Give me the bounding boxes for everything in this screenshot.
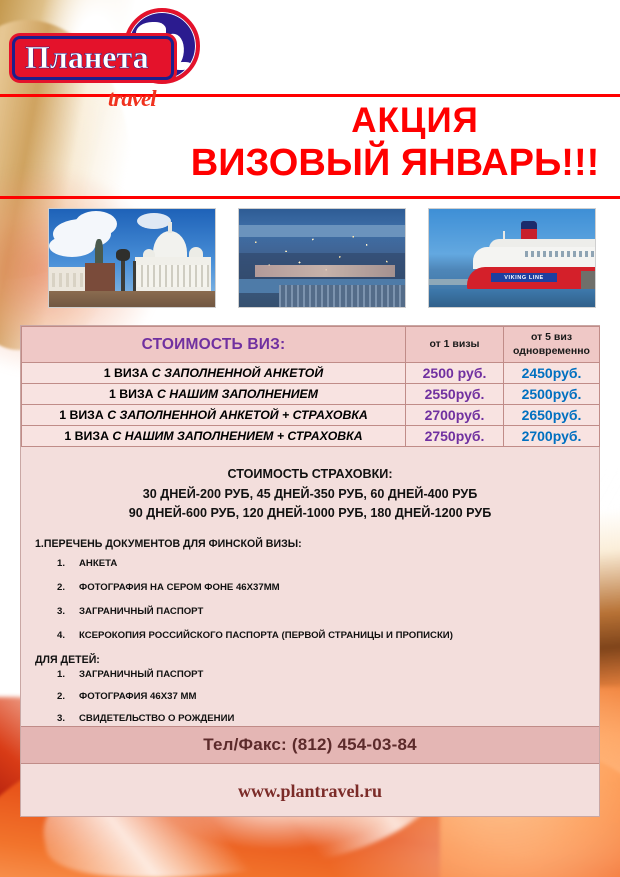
table-row: 1 ВИЗА С ЗАПОЛНЕННОЙ АНКЕТОЙ 2500 руб. 2… (22, 363, 600, 384)
phone-number: Тел/Факс: (812) 454-03-84 (203, 735, 417, 755)
insurance-section: СТОИМОСТЬ СТРАХОВКИ: 30 ДНЕЙ-200 РУБ, 45… (21, 447, 599, 528)
price-single: 2750руб. (406, 426, 504, 447)
headline-line-1: АКЦИЯ (215, 100, 615, 141)
brand-plate: Планета (12, 36, 174, 80)
photo-strip: VIKING LINE (48, 208, 596, 313)
documents-heading: 1.ПЕРЕЧЕНЬ ДОКУМЕНТОВ ДЛЯ ФИНСКОЙ ВИЗЫ: (35, 538, 589, 550)
price-row-label: 1 ВИЗА С ЗАПОЛНЕННОЙ АНКЕТОЙ (22, 363, 406, 384)
list-item: ФОТОГРАФИЯ НА СЕРОМ ФОНЕ 46Х37ММ (57, 582, 589, 593)
price-group: 2450руб. (504, 363, 600, 384)
viking-line-ferry-photo: VIKING LINE (428, 208, 596, 308)
ship-brand-label: VIKING LINE (504, 275, 544, 281)
price-group: 2700руб. (504, 426, 600, 447)
price-row-label: 1 ВИЗА С ЗАПОЛНЕННОЙ АНКЕТОЙ + СТРАХОВКА (22, 405, 406, 426)
page-title: АКЦИЯ ВИЗОВЫЙ ЯНВАРЬ!!! (215, 100, 615, 186)
company-logo: Планета travel (12, 6, 212, 104)
documents-section: 1.ПЕРЕЧЕНЬ ДОКУМЕНТОВ ДЛЯ ФИНСКОЙ ВИЗЫ: … (21, 528, 599, 724)
divider-rule-bottom (0, 196, 620, 199)
list-item: ЗАГРАНИЧНЫЙ ПАСПОРТ (57, 669, 589, 680)
list-item: КСЕРОКОПИЯ РОССИЙСКОГО ПАСПОРТА (ПЕРВОЙ … (57, 630, 589, 641)
price-single: 2550руб. (406, 384, 504, 405)
price-row-label: 1 ВИЗА С НАШИМ ЗАПОЛНЕНИЕМ (22, 384, 406, 405)
price-table-title: СТОИМОСТЬ ВИЗ: (22, 336, 405, 354)
price-group: 2650руб. (504, 405, 600, 426)
brand-subtitle: travel (108, 86, 156, 112)
insurance-title: СТОИМОСТЬ СТРАХОВКИ: (31, 465, 589, 485)
column-header-single-visa: от 1 визы (406, 327, 504, 363)
list-item: ЗАГРАНИЧНЫЙ ПАСПОРТ (57, 606, 589, 617)
table-row: 1 ВИЗА С НАШИМ ЗАПОЛНЕНИЕМ 2550руб. 2500… (22, 384, 600, 405)
visa-price-table: СТОИМОСТЬ ВИЗ: от 1 визы от 5 виз одновр… (21, 326, 600, 447)
table-row: 1 ВИЗА С ЗАПОЛНЕННОЙ АНКЕТОЙ + СТРАХОВКА… (22, 405, 600, 426)
city-aerial-dusk-photo (238, 208, 406, 308)
kids-documents-heading: ДЛЯ ДЕТЕЙ: (35, 654, 589, 666)
table-row: 1 ВИЗА С НАШИМ ЗАПОЛНЕНИЕМ + СТРАХОВКА 2… (22, 426, 600, 447)
price-row-label: 1 ВИЗА С НАШИМ ЗАПОЛНЕНИЕМ + СТРАХОВКА (22, 426, 406, 447)
headline-line-2: ВИЗОВЫЙ ЯНВАРЬ!!! (175, 141, 615, 186)
insurance-line-1: 30 ДНЕЙ-200 РУБ, 45 ДНЕЙ-350 РУБ, 60 ДНЕ… (31, 485, 589, 505)
phone-band: Тел/Факс: (812) 454-03-84 (21, 726, 599, 764)
content-panel: СТОИМОСТЬ ВИЗ: от 1 визы от 5 виз одновр… (20, 325, 600, 817)
price-single: 2500 руб. (406, 363, 504, 384)
website-band[interactable]: www.plantravel.ru (21, 766, 599, 816)
helsinki-cathedral-photo (48, 208, 216, 308)
column-header-five-visas: от 5 виз одновременно (504, 327, 600, 363)
price-group: 2500руб. (504, 384, 600, 405)
documents-list: АНКЕТА ФОТОГРАФИЯ НА СЕРОМ ФОНЕ 46Х37ММ … (57, 558, 589, 641)
insurance-line-2: 90 ДНЕЙ-600 РУБ, 120 ДНЕЙ-1000 РУБ, 180 … (31, 504, 589, 524)
table-header-row: СТОИМОСТЬ ВИЗ: от 1 визы от 5 виз одновр… (22, 327, 600, 363)
website-url[interactable]: www.plantravel.ru (238, 781, 382, 802)
price-single: 2700руб. (406, 405, 504, 426)
list-item: ФОТОГРАФИЯ 46Х37 ММ (57, 691, 589, 702)
brand-name: Планета (25, 41, 149, 73)
price-table-title-cell: СТОИМОСТЬ ВИЗ: (22, 327, 406, 363)
list-item: СВИДЕТЕЛЬСТВО О РОЖДЕНИИ (57, 713, 589, 724)
kids-documents-list: ЗАГРАНИЧНЫЙ ПАСПОРТ ФОТОГРАФИЯ 46Х37 ММ … (57, 669, 589, 724)
list-item: АНКЕТА (57, 558, 589, 569)
